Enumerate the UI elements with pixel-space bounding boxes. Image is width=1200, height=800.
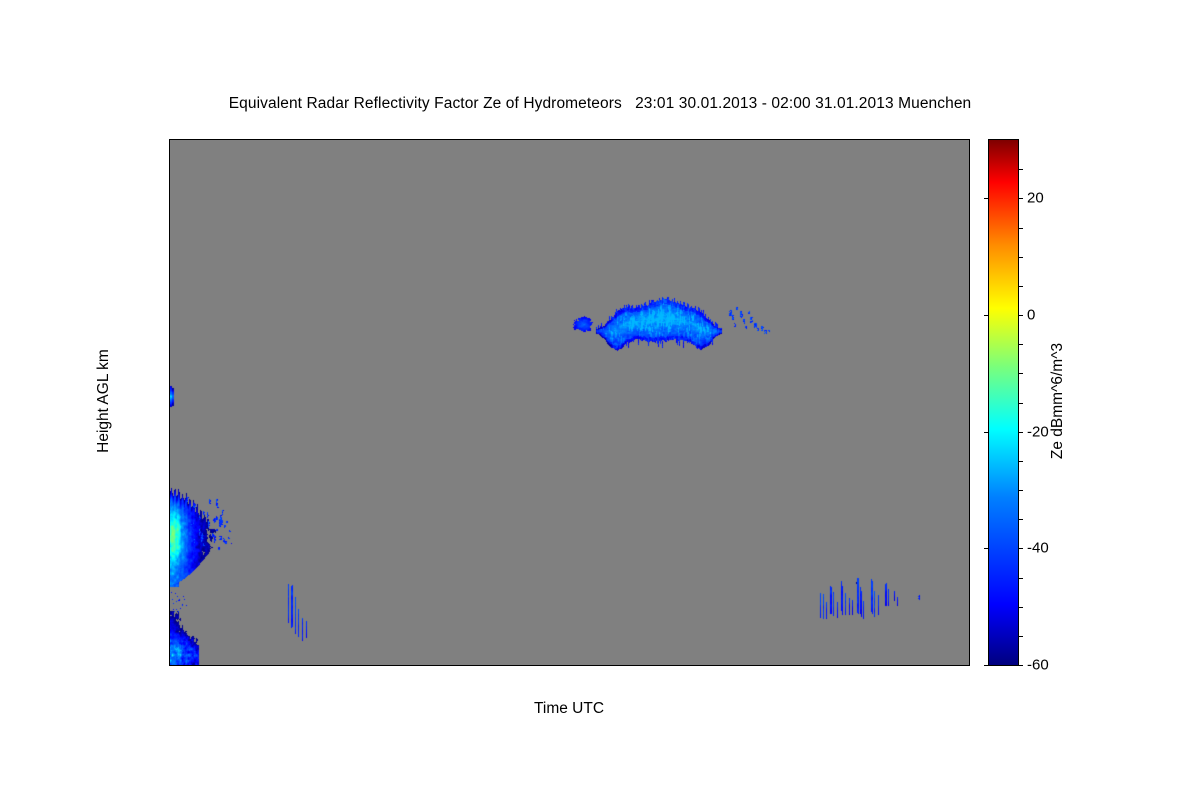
y-tick-minor-right xyxy=(969,266,970,267)
y-tick-minor xyxy=(169,355,170,356)
x-tick xyxy=(835,665,836,666)
y-tick xyxy=(169,221,170,222)
colorbar-tick-minor xyxy=(1018,636,1023,637)
plot-area: 24681023:3000:0000:3001:0001:3002:00 xyxy=(169,139,970,666)
colorbar-tick xyxy=(984,548,989,549)
y-tick-minor-right xyxy=(969,625,970,626)
y-tick-minor xyxy=(169,176,170,177)
colorbar-tick-minor xyxy=(1018,373,1023,374)
y-tick-minor xyxy=(169,445,170,446)
y-tick-right xyxy=(969,580,970,581)
x-tick xyxy=(969,665,970,666)
radar-heatmap-canvas xyxy=(170,140,969,665)
y-tick-right xyxy=(969,490,970,491)
y-tick-right xyxy=(969,311,970,312)
colorbar-tick-right xyxy=(1018,315,1023,316)
x-tick xyxy=(701,665,702,666)
y-tick xyxy=(169,400,170,401)
y-tick-minor-right xyxy=(969,535,970,536)
x-tick-minor xyxy=(924,665,925,666)
radar-reflectivity-figure: Equivalent Radar Reflectivity Factor Ze … xyxy=(0,0,1200,800)
x-tick-minor xyxy=(612,665,613,666)
colorbar-tick-right xyxy=(1018,198,1023,199)
x-tick xyxy=(433,665,434,666)
x-tick-minor-top xyxy=(880,139,881,140)
x-axis-title: Time UTC xyxy=(534,700,604,718)
x-tick-top xyxy=(701,139,702,140)
x-tick-minor xyxy=(523,665,524,666)
colorbar-tick-label: 20 xyxy=(1027,190,1044,207)
x-tick-minor-top xyxy=(924,139,925,140)
colorbar-tick-minor xyxy=(1018,286,1023,287)
colorbar-tick-right xyxy=(1018,665,1023,666)
x-tick xyxy=(567,665,568,666)
colorbar-tick-minor xyxy=(1018,403,1023,404)
colorbar-tick-minor xyxy=(1018,169,1023,170)
colorbar-tick-minor xyxy=(1018,578,1023,579)
colorbar-tick-minor xyxy=(1018,344,1023,345)
x-tick-minor-top xyxy=(255,139,256,140)
y-tick-right xyxy=(969,400,970,401)
x-tick-minor-top xyxy=(657,139,658,140)
x-tick-minor-top xyxy=(478,139,479,140)
x-tick-top xyxy=(433,139,434,140)
x-tick-minor xyxy=(746,665,747,666)
colorbar-tick-minor xyxy=(1018,519,1023,520)
x-tick-minor xyxy=(389,665,390,666)
y-axis-title: Height AGL km xyxy=(95,349,113,453)
y-tick xyxy=(169,490,170,491)
x-tick xyxy=(299,665,300,666)
x-tick-minor-top xyxy=(612,139,613,140)
colorbar-tick-minor xyxy=(1018,490,1023,491)
x-tick-top xyxy=(835,139,836,140)
colorbar-tick xyxy=(984,198,989,199)
x-tick-minor-top xyxy=(790,139,791,140)
x-tick-minor xyxy=(478,665,479,666)
y-tick-minor-right xyxy=(969,445,970,446)
colorbar-tick-minor xyxy=(1018,461,1023,462)
colorbar-tick-label: -40 xyxy=(1027,540,1049,557)
x-tick-minor-top xyxy=(344,139,345,140)
x-tick-minor xyxy=(344,665,345,666)
colorbar-tick-label: -20 xyxy=(1027,423,1049,440)
y-tick-minor xyxy=(169,535,170,536)
colorbar-tick-minor xyxy=(1018,228,1023,229)
y-tick-minor xyxy=(169,266,170,267)
colorbar-tick xyxy=(984,665,989,666)
x-tick-top xyxy=(567,139,568,140)
x-tick-minor xyxy=(790,665,791,666)
x-tick-top xyxy=(969,139,970,140)
colorbar-tick xyxy=(984,315,989,316)
y-tick-right xyxy=(969,221,970,222)
colorbar-tick xyxy=(984,432,989,433)
y-tick xyxy=(169,311,170,312)
x-tick-minor-top xyxy=(210,139,211,140)
colorbar-tick-minor xyxy=(1018,607,1023,608)
colorbar-title: Ze dBmm^6/m^3 xyxy=(1049,343,1067,459)
y-tick xyxy=(169,580,170,581)
colorbar-tick-right xyxy=(1018,548,1023,549)
x-tick-minor xyxy=(657,665,658,666)
colorbar-tick-minor xyxy=(1018,257,1023,258)
x-tick-minor xyxy=(210,665,211,666)
colorbar-tick-right xyxy=(1018,432,1023,433)
x-tick-minor-top xyxy=(389,139,390,140)
x-tick-minor xyxy=(255,665,256,666)
page-title: Equivalent Radar Reflectivity Factor Ze … xyxy=(0,95,1200,113)
y-tick-minor xyxy=(169,625,170,626)
x-tick-top xyxy=(299,139,300,140)
y-tick-minor-right xyxy=(969,176,970,177)
colorbar-tick-label: -60 xyxy=(1027,657,1049,674)
x-tick-minor xyxy=(880,665,881,666)
x-tick-minor-top xyxy=(746,139,747,140)
colorbar: 200-20-40-60 xyxy=(988,139,1019,666)
x-tick-minor-top xyxy=(523,139,524,140)
y-tick-minor-right xyxy=(969,355,970,356)
colorbar-tick-label: 0 xyxy=(1027,307,1035,324)
